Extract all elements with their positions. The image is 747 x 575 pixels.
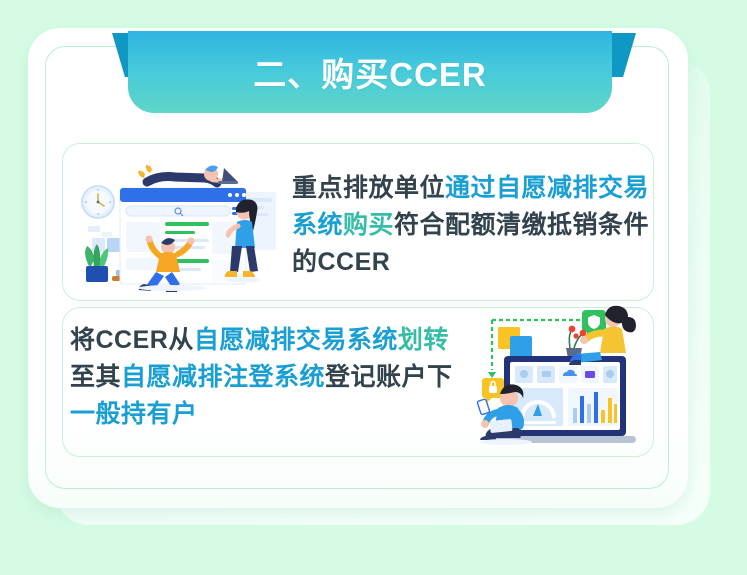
- text-segment: 重点排放单位: [292, 174, 445, 202]
- text-segment: 通过自愿减排: [445, 174, 598, 202]
- text-segment: 将CCER从: [70, 326, 194, 354]
- text-segment: 划转: [398, 326, 449, 354]
- laptop-dashboard-analytics-illustration: [462, 300, 662, 448]
- card-two-text: 将CCER从自愿减排交易系统划转至其自愿减排注登系统登记账户下一般持有户: [70, 322, 470, 433]
- text-segment: 登: [325, 363, 351, 391]
- page-title: 二、购买CCER: [253, 58, 487, 91]
- text-segment: 一般持有户: [70, 400, 198, 428]
- team-website-building-illustration: [72, 150, 284, 292]
- header-ribbon: 二、购买CCER: [0, 0, 747, 130]
- text-segment: 购买: [343, 211, 394, 239]
- text-segment: 记账户下: [351, 363, 453, 391]
- text-segment: 自愿减排注登系统: [121, 363, 325, 391]
- text-segment: 自愿减排交易系统: [194, 326, 398, 354]
- text-segment: 至其: [70, 363, 121, 391]
- ribbon-banner: 二、购买CCER: [128, 31, 612, 113]
- text-segment: 符合配额清缴: [394, 211, 547, 239]
- card-one-text: 重点排放单位通过自愿减排交易系统购买符合配额清缴抵销条件的CCER: [292, 170, 652, 281]
- infographic-root: 二、购买CCER: [0, 0, 747, 575]
